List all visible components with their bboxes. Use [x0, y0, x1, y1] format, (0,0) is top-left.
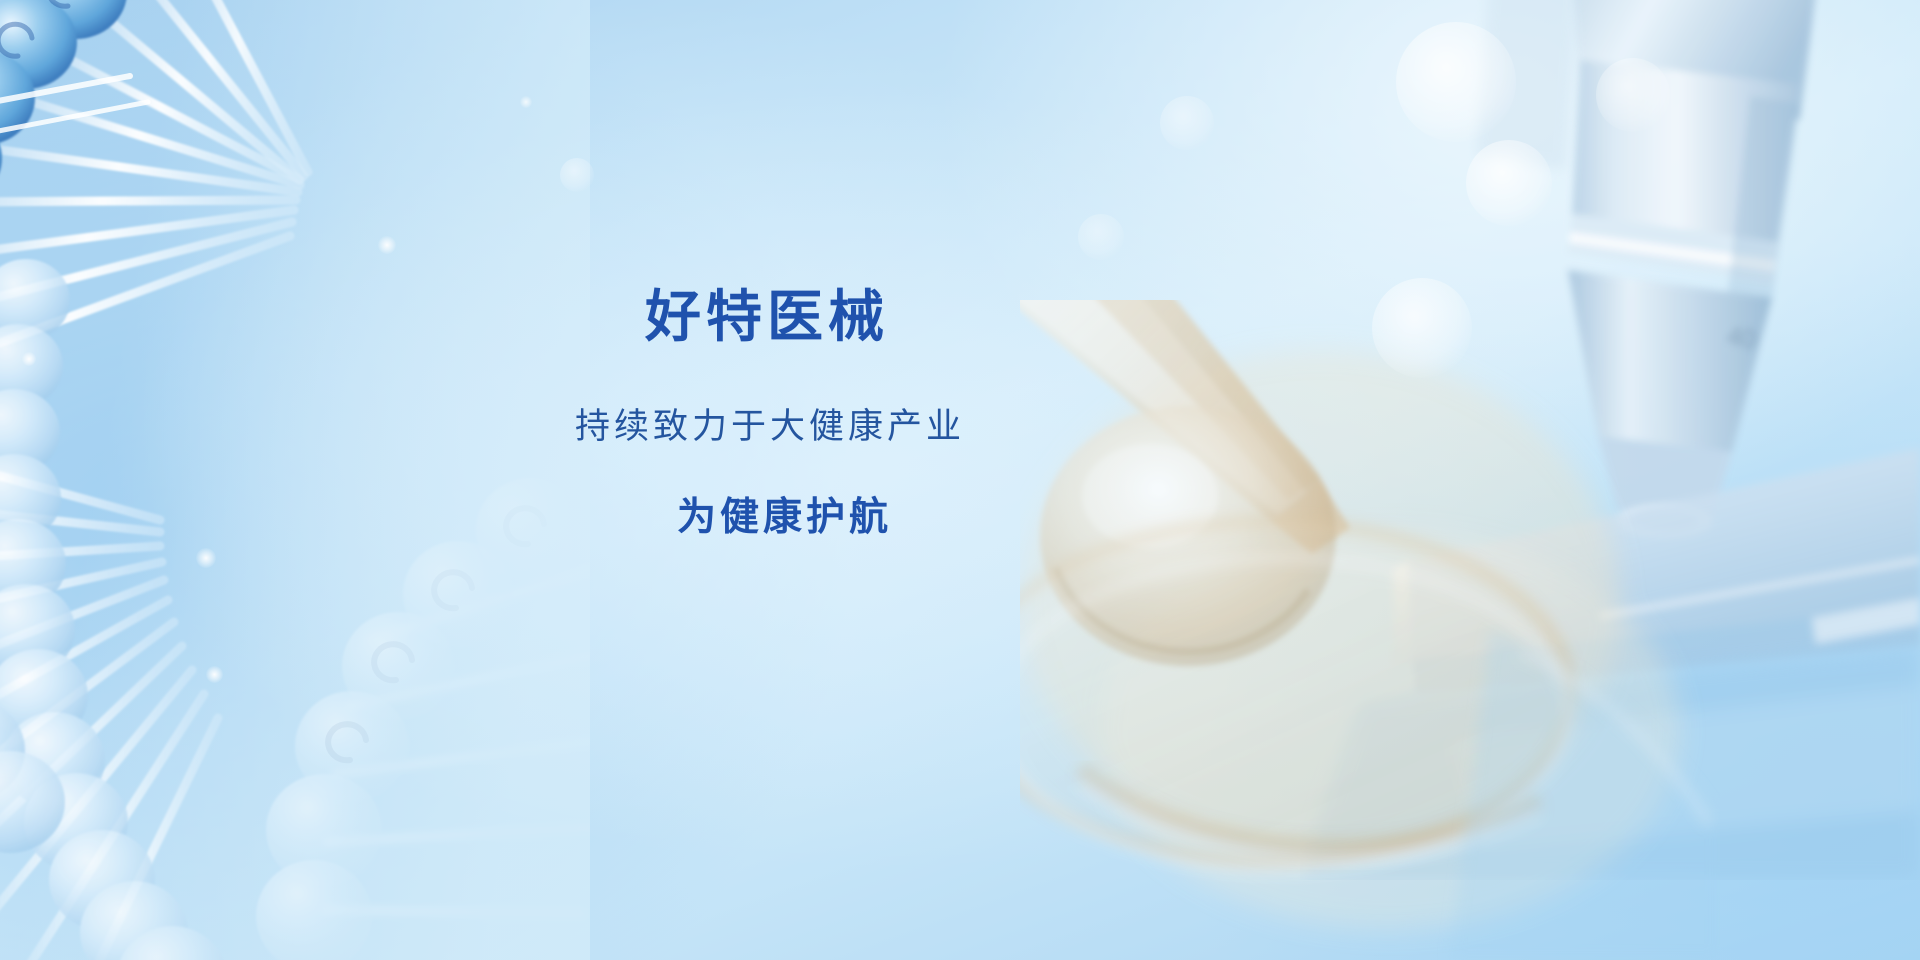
light-spark [206, 666, 223, 683]
dna-fade-overlay [0, 0, 590, 960]
light-spark [520, 96, 532, 108]
light-spark [196, 548, 216, 568]
bokeh-circle [1078, 214, 1124, 260]
banner-title: 好特医械 [645, 288, 1345, 347]
bokeh-circle [1160, 96, 1214, 150]
bokeh-circle [1372, 278, 1472, 378]
microscope-lens-label: 40 [1725, 320, 1758, 354]
microscope-objective-graphic: 40 [1280, 0, 1920, 620]
dna-double-helix-graphic [0, 0, 590, 960]
hero-banner: 40 [0, 0, 1920, 960]
bokeh-circle [560, 158, 594, 192]
banner-subtitle: 持续致力于大健康产业 [575, 409, 1345, 446]
bokeh-circle [1596, 58, 1670, 132]
banner-copy-block: 好特医械 持续致力于大健康产业 为健康护航 [645, 288, 1345, 538]
light-spark [378, 236, 396, 254]
light-spark [22, 352, 36, 366]
bokeh-circle [1466, 140, 1552, 226]
banner-slogan: 为健康护航 [677, 498, 1345, 539]
bokeh-circle [1396, 22, 1516, 142]
microscope-stage-graphic [1300, 410, 1920, 880]
